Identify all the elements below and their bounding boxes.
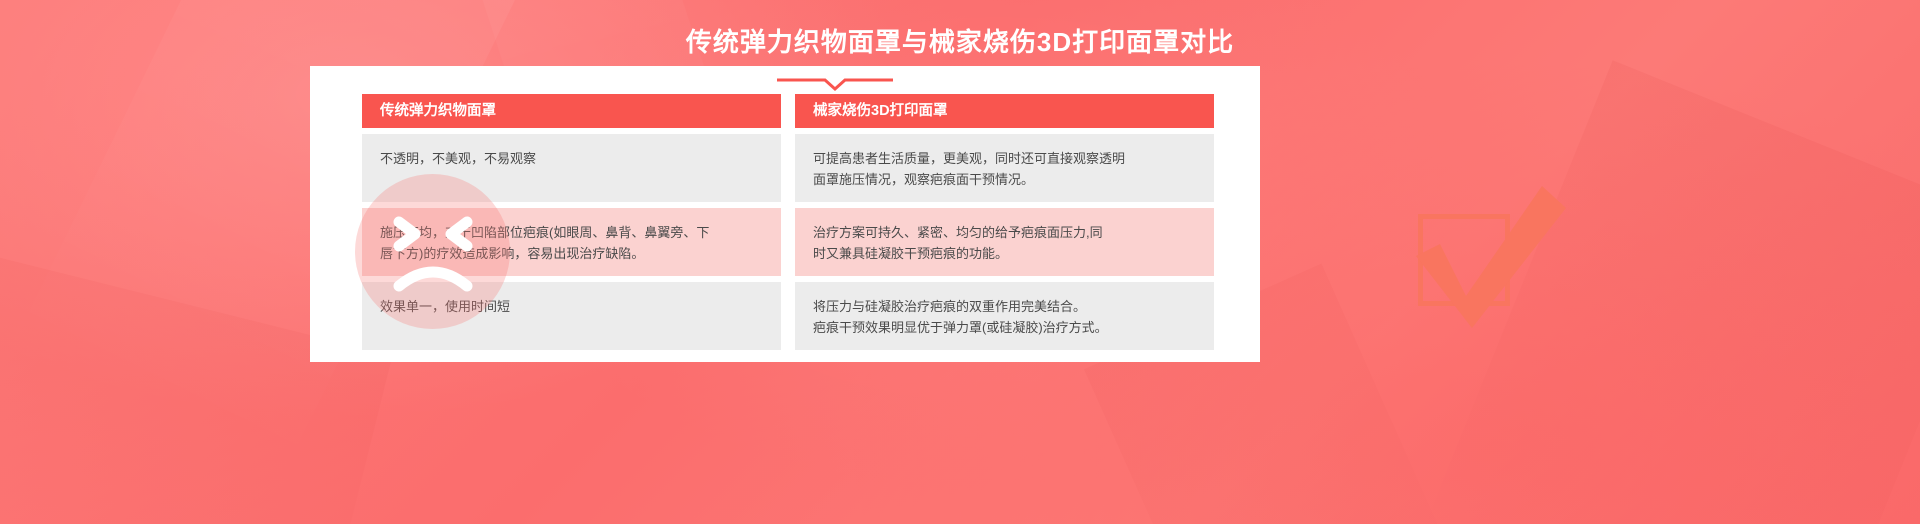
content-panel: 传统弹力织物面罩 不透明，不美观，不易观察 施压不均，对于凹陷部位疤痕(如眼周、…: [310, 66, 1260, 362]
cell-line: 可提高患者生活质量，更美观，同时还可直接观察透明: [813, 148, 1196, 169]
comparison-table: 传统弹力织物面罩 不透明，不美观，不易观察 施压不均，对于凹陷部位疤痕(如眼周、…: [362, 94, 1215, 350]
table-cell: 可提高患者生活质量，更美观，同时还可直接观察透明 面罩施压情况，观察疤痕面干预情…: [795, 134, 1214, 202]
cell-line: 治疗方案可持久、紧密、均匀的给予疤痕面压力,同: [813, 222, 1196, 243]
table-cell: 施压不均，对于凹陷部位疤痕(如眼周、鼻背、鼻翼旁、下 唇下方)的疗效造成影响，容…: [362, 208, 781, 276]
cell-line: 将压力与硅凝胶治疗疤痕的双重作用完美结合。: [813, 296, 1196, 317]
table-column-traditional: 传统弹力织物面罩 不透明，不美观，不易观察 施压不均，对于凹陷部位疤痕(如眼周、…: [362, 94, 781, 350]
check-mark-icon: [1398, 178, 1588, 338]
poster-canvas: 传统弹力织物面罩与械家烧伤3D打印面罩对比 传统弹力织物面罩 不透明，不美观，不…: [0, 0, 1920, 524]
table-cell: 效果单一，使用时间短: [362, 282, 781, 350]
column-header-3dprint: 械家烧伤3D打印面罩: [795, 94, 1214, 128]
table-column-3dprint: 械家烧伤3D打印面罩 可提高患者生活质量，更美观，同时还可直接观察透明 面罩施压…: [795, 94, 1214, 350]
page-title: 传统弹力织物面罩与械家烧伤3D打印面罩对比: [0, 22, 1920, 59]
cell-line: 唇下方)的疗效造成影响，容易出现治疗缺陷。: [380, 243, 763, 264]
title-divider-notch: [775, 74, 895, 94]
table-cell: 将压力与硅凝胶治疗疤痕的双重作用完美结合。 疤痕干预效果明显优于弹力罩(或硅凝胶…: [795, 282, 1214, 350]
cell-line: 不透明，不美观，不易观察: [380, 148, 763, 169]
cell-line: 疤痕干预效果明显优于弹力罩(或硅凝胶)治疗方式。: [813, 317, 1196, 338]
table-cell: 治疗方案可持久、紧密、均匀的给予疤痕面压力,同 时又兼具硅凝胶干预疤痕的功能。: [795, 208, 1214, 276]
background-facet: [1418, 60, 1920, 524]
cell-line: 效果单一，使用时间短: [380, 296, 763, 317]
table-cell: 不透明，不美观，不易观察: [362, 134, 781, 202]
cell-line: 面罩施压情况，观察疤痕面干预情况。: [813, 169, 1196, 190]
column-header-traditional: 传统弹力织物面罩: [362, 94, 781, 128]
cell-line: 时又兼具硅凝胶干预疤痕的功能。: [813, 243, 1196, 264]
cell-line: 施压不均，对于凹陷部位疤痕(如眼周、鼻背、鼻翼旁、下: [380, 222, 763, 243]
checkbox-outline-icon: [1418, 214, 1510, 306]
